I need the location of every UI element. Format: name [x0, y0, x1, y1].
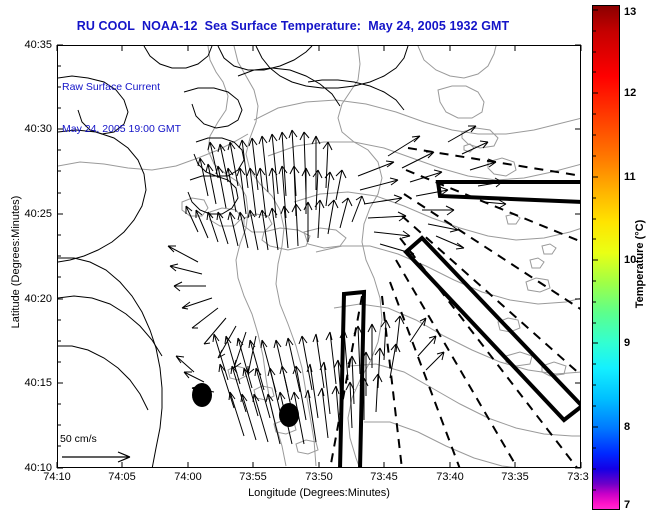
x-tick-label: 73:55	[239, 471, 267, 483]
y-tick-label: 40:15	[4, 377, 52, 389]
y-tick-label: 40:35	[4, 39, 52, 51]
y-axis-title: Latitude (Degrees:Minutes)	[10, 172, 22, 352]
map-svg	[58, 46, 581, 468]
x-tick-label: 73:50	[305, 471, 333, 483]
colorbar-tick-label: 12	[624, 87, 636, 99]
figure-title: RU COOL NOAA-12 Sea Surface Temperature:…	[0, 19, 586, 33]
station-marker	[192, 383, 212, 407]
shipping-lanes	[340, 182, 581, 468]
colorbar-tick-label: 13	[624, 6, 636, 18]
x-axis-title: Longitude (Degrees:Minutes)	[57, 487, 581, 499]
map-plot-area[interactable]	[57, 45, 581, 468]
x-tick-label: 73:35	[501, 471, 529, 483]
colorbar-title: Temperature (°C)	[634, 174, 646, 354]
colorbar-tick-label: 9	[624, 337, 630, 349]
x-tick-label: 74:00	[174, 471, 202, 483]
colorbar-tick-label: 7	[624, 499, 630, 511]
x-tick-label: 73:40	[436, 471, 464, 483]
y-tick-label-group: 40:35 40:30 40:25 40:20 40:15 40:10	[0, 0, 52, 515]
station-marker	[279, 403, 299, 427]
x-tick-label: 74:10	[43, 471, 71, 483]
colorbar-gradient	[592, 5, 620, 510]
x-tick-label: 74:05	[108, 471, 136, 483]
temperature-colorbar[interactable]: 13 12 11 10 9 8 7	[592, 5, 620, 510]
surface-current-vectors	[168, 126, 506, 444]
x-tick-label: 73:3	[567, 471, 588, 483]
bathymetry-contours	[58, 46, 581, 468]
x-tick-label: 73:45	[370, 471, 398, 483]
colorbar-tick-label: 8	[624, 421, 630, 433]
sst-map-figure: RU COOL NOAA-12 Sea Surface Temperature:…	[0, 0, 651, 515]
y-tick-label: 40:30	[4, 123, 52, 135]
